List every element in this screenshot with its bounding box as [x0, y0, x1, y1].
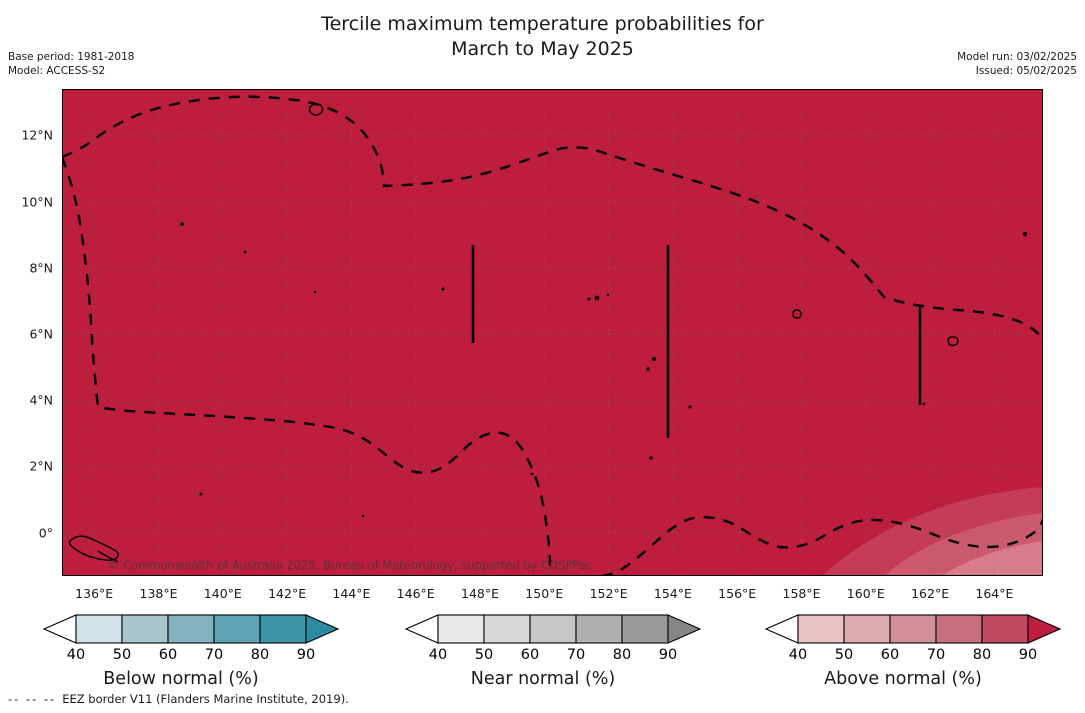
model-run-text: Model run: 03/02/2025 [957, 50, 1077, 64]
base-period-text: Base period: 1981-2018 [8, 50, 134, 64]
cbar2-tick-50: 50 [835, 647, 853, 663]
x-tick-label-142: 142°E [268, 586, 306, 601]
colorbar-tick-row: 40 50 60 70 80 90 [6, 647, 356, 667]
colorbar-above-normal[interactable]: 40 50 60 70 80 90 Above normal (%) [728, 612, 1078, 689]
colorbar-over-arrow [668, 615, 700, 643]
cbar2-tick-70: 70 [927, 647, 945, 663]
cbar1-tick-90: 90 [659, 647, 677, 663]
x-tick-label-156: 156°E [718, 586, 756, 601]
figure-root: Tercile maximum temperature probabilitie… [0, 0, 1085, 713]
y-tick-label-0: 0° [0, 525, 53, 540]
cbar0-tick-80: 80 [251, 647, 269, 663]
y-tick-label-4: 4°N [0, 393, 53, 408]
metadata-right: Model run: 03/02/2025 Issued: 05/02/2025 [957, 50, 1077, 78]
x-tick-label-150: 150°E [525, 586, 563, 601]
colorbar-caption-below-normal: Below normal (%) [6, 669, 356, 689]
cbar0-tick-60: 60 [159, 647, 177, 663]
cbar2-tick-60: 60 [881, 647, 899, 663]
page-title: Tercile maximum temperature probabilitie… [0, 12, 1085, 62]
x-tick-label-164: 164°E [975, 586, 1013, 601]
y-tick-label-6: 6°N [0, 327, 53, 342]
x-tick-label-148: 148°E [461, 586, 499, 601]
colorbar-over-arrow [1028, 615, 1060, 643]
x-tick-label-154: 154°E [654, 586, 692, 601]
y-tick-label-10: 10°N [0, 194, 53, 209]
cbar0-tick-40: 40 [67, 647, 85, 663]
x-tick-label-162: 162°E [911, 586, 949, 601]
colorbar-under-arrow [406, 615, 438, 643]
metadata-left: Base period: 1981-2018 Model: ACCESS-S2 [8, 50, 134, 78]
colorbar-near-normal[interactable]: 40 50 60 70 80 90 Near normal (%) [368, 612, 718, 689]
x-tick-label-146: 146°E [397, 586, 435, 601]
x-tick-label-152: 152°E [590, 586, 628, 601]
cbar1-tick-80: 80 [613, 647, 631, 663]
x-tick-label-158: 158°E [782, 586, 820, 601]
x-tick-label-138: 138°E [139, 586, 177, 601]
cbar1-tick-40: 40 [429, 647, 447, 663]
cbar1-tick-60: 60 [521, 647, 539, 663]
y-tick-label-2: 2°N [0, 459, 53, 474]
x-tick-label-136: 136°E [75, 586, 113, 601]
probability-field-base [62, 89, 1043, 576]
eez-legend: -- -- -- EEZ border V11 (Flanders Marine… [8, 692, 349, 706]
cbar2-tick-80: 80 [973, 647, 991, 663]
eez-dash-sample: -- -- -- [8, 692, 56, 706]
eez-legend-text: EEZ border V11 (Flanders Marine Institut… [62, 692, 349, 706]
cbar2-tick-90: 90 [1019, 647, 1037, 663]
issued-text: Issued: 05/02/2025 [957, 64, 1077, 78]
cbar0-tick-90: 90 [297, 647, 315, 663]
colorbar-below-normal[interactable]: 40 50 60 70 80 90 Below normal (%) [6, 612, 356, 689]
cbar2-tick-40: 40 [789, 647, 807, 663]
x-tick-label-160: 160°E [847, 586, 885, 601]
colorbar-tick-row: 40 50 60 70 80 90 [368, 647, 718, 667]
colorbar-under-arrow [44, 615, 76, 643]
y-tick-label-12: 12°N [0, 128, 53, 143]
colorbar-under-arrow [766, 615, 798, 643]
colorbar-over-arrow [306, 615, 338, 643]
map-plot-area[interactable]: © Commonwealth of Australia 2025, Bureau… [62, 89, 1043, 576]
colorbar-tick-row: 40 50 60 70 80 90 [728, 647, 1078, 667]
model-text: Model: ACCESS-S2 [8, 64, 134, 78]
colorbar-caption-near-normal: Near normal (%) [368, 669, 718, 689]
cbar1-tick-50: 50 [475, 647, 493, 663]
colorbar-caption-above-normal: Above normal (%) [728, 669, 1078, 689]
y-tick-label-8: 8°N [0, 260, 53, 275]
x-tick-label-144: 144°E [332, 586, 370, 601]
cbar0-tick-50: 50 [113, 647, 131, 663]
cbar0-tick-70: 70 [205, 647, 223, 663]
cbar1-tick-70: 70 [567, 647, 585, 663]
x-tick-label-140: 140°E [204, 586, 242, 601]
